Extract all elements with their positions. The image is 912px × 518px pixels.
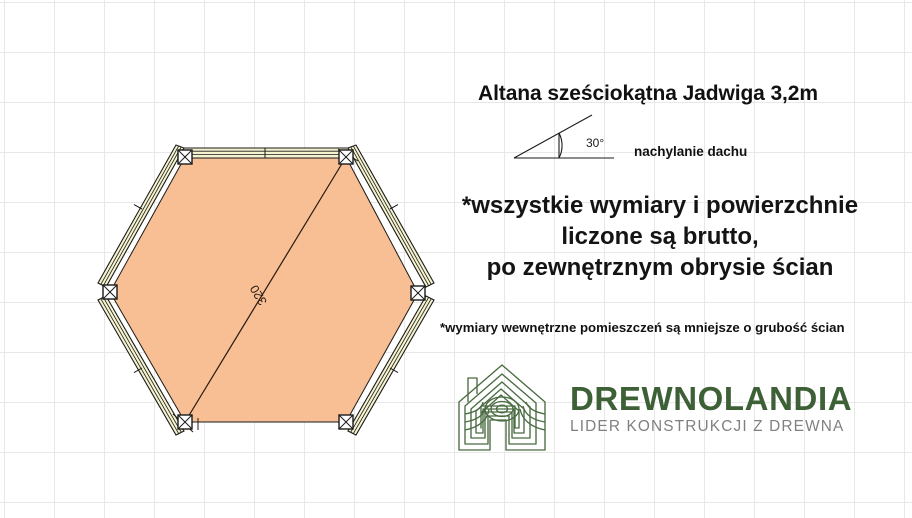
corner-post [411, 286, 425, 300]
logo-text-block: DREWNOLANDIA LIDER KONSTRUKCJI Z DREWNA [570, 382, 852, 434]
corner-post [178, 150, 192, 164]
note-line-1: *wszystkie wymiary i powierzchnie [432, 190, 888, 221]
corner-post [103, 285, 117, 299]
angle-hypotenuse [514, 115, 592, 158]
corner-post [339, 415, 353, 429]
wall-band-top [182, 148, 349, 158]
page-title: Altana sześciokątna Jadwiga 3,2m [478, 82, 818, 106]
note-line-2: liczone są brutto, [432, 221, 888, 252]
roof-angle-label: 30° [586, 136, 604, 150]
roof-pitch-caption: nachylanie dachu [634, 144, 747, 159]
company-logo: DREWNOLANDIA LIDER KONSTRUKCJI Z DREWNA [452, 362, 852, 454]
logo-company-name: DREWNOLANDIA [570, 382, 852, 415]
corner-post [339, 150, 353, 164]
house-tree-rings-icon [452, 362, 552, 454]
drawing-page: 320 [0, 0, 912, 518]
hexagon-floor-plan: 320 [0, 0, 470, 500]
corner-post [178, 415, 192, 429]
gross-dimensions-note: *wszystkie wymiary i powierzchnie liczon… [432, 190, 888, 284]
logo-tagline: LIDER KONSTRUKCJI Z DREWNA [570, 419, 852, 434]
note-line-3: po zewnętrznym obrysie ścian [432, 252, 888, 283]
interior-dimensions-footnote: *wymiary wewnętrzne pomieszczeń są mniej… [440, 320, 845, 335]
roof-pitch-diagram [512, 112, 622, 162]
